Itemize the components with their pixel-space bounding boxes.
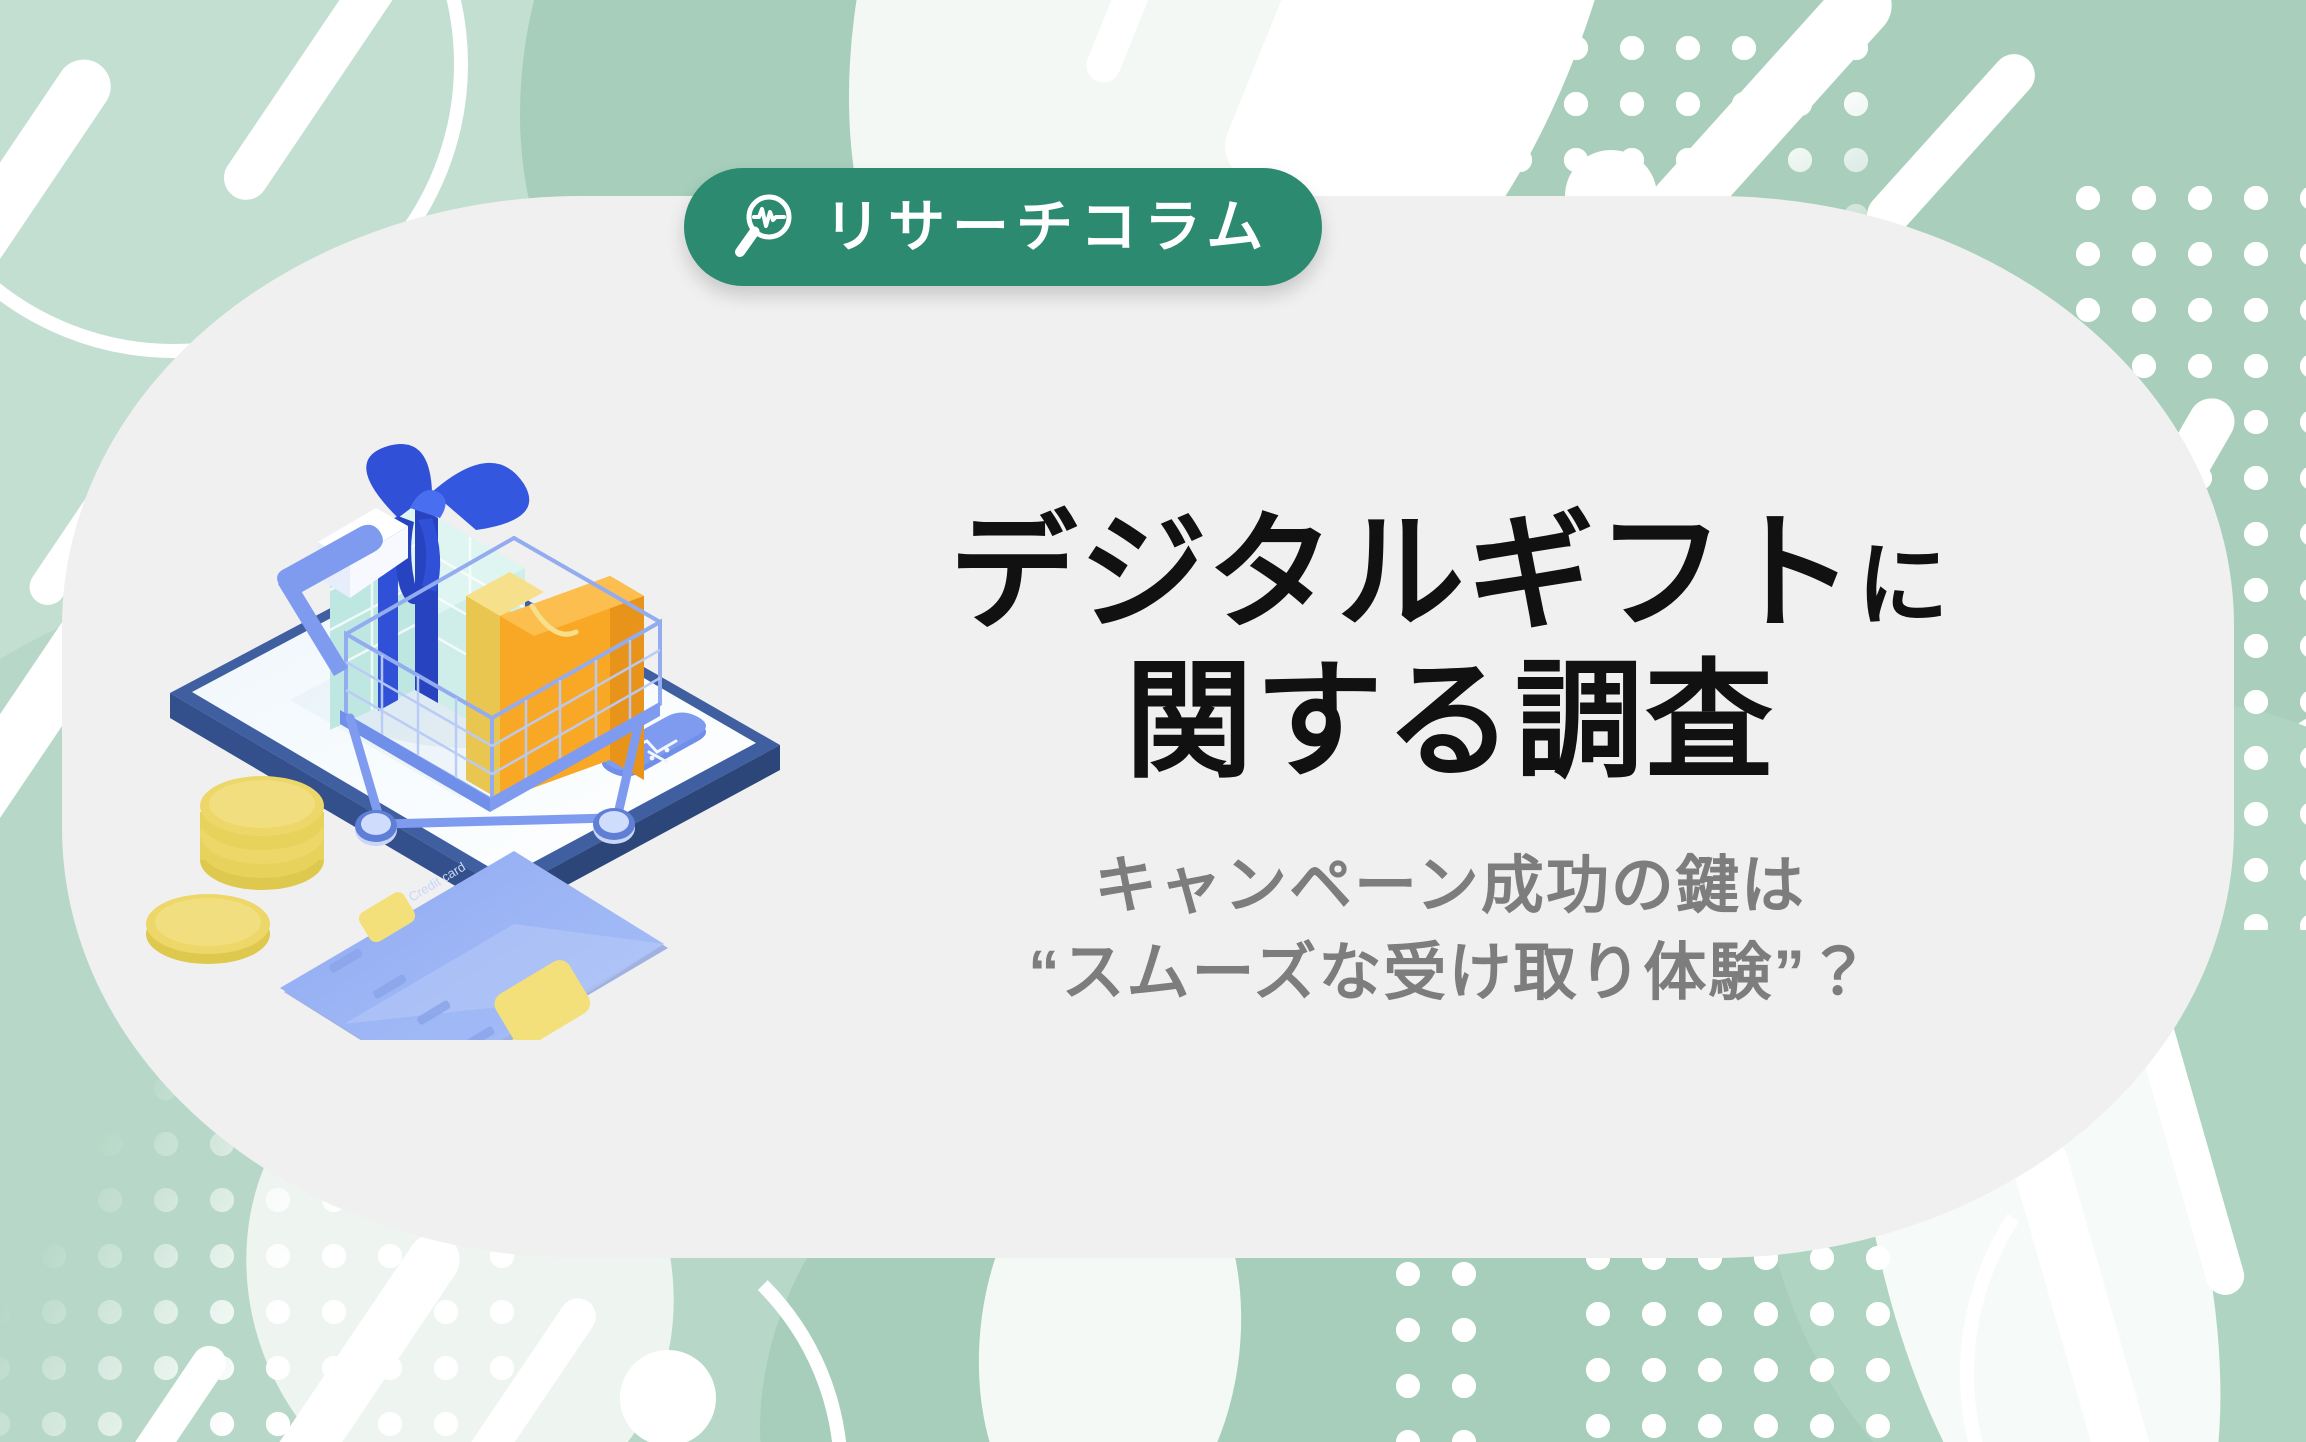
coin-stack [200,776,324,890]
title-line-2: 関する調査 [1125,650,1775,793]
title-line-1: デジタルギフト [949,502,1856,645]
single-coin [146,894,270,964]
page-subtitle: キャンペーン成功の鍵は “スムーズな受け取り体験”？ [790,843,2110,1017]
research-column-badge[interactable]: リサーチコラム [684,168,1322,286]
credit-card: Credit card [280,851,668,1040]
background-circle-2 [620,1350,716,1442]
background-dot-grid-4 [1570,1230,1890,1442]
shopping-illustration: Credit card [140,400,800,1040]
subtitle-line-1: キャンペーン成功の鍵は [1094,851,1806,921]
title-particle: に [1857,535,1951,637]
subtitle-line-2: “スムーズな受け取り体験”？ [1028,938,1872,1008]
research-column-banner: リサーチコラム デジタルギフトに 関する調査 キャンペーン成功の鍵は “スムーズ… [0,0,2306,1442]
magnifier-pulse-icon [728,192,798,262]
page-title: デジタルギフトに 関する調査 [790,500,2110,797]
isometric-shopping-scene: Credit card [140,400,800,1040]
text-block: デジタルギフトに 関する調査 キャンペーン成功の鍵は “スムーズな受け取り体験”… [790,500,2110,1017]
badge-label: リサーチコラム [824,199,1270,256]
